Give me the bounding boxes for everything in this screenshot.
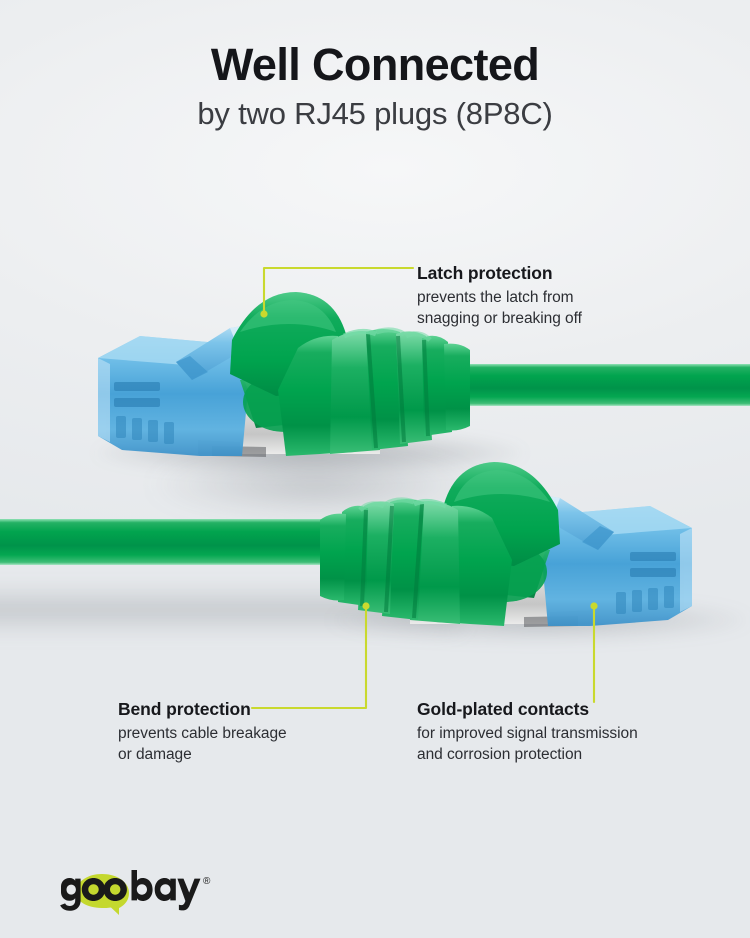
callout-body-line-2: or damage	[118, 744, 287, 765]
goobay-logo: ®	[55, 870, 235, 916]
bend-protection-ribs	[338, 499, 460, 624]
callout-body-line-2: and corrosion protection	[417, 744, 638, 765]
callout-title: Gold-plated contacts	[417, 698, 638, 720]
bend-protection-ribs	[330, 329, 452, 454]
callout-body-line-1: for improved signal transmission	[417, 723, 638, 744]
callout-bend-protection: Bend protection prevents cable breakage …	[118, 698, 287, 765]
callout-body-line-1: prevents cable breakage	[118, 723, 287, 744]
boot-cable-transition	[444, 344, 470, 431]
page-subtitle: by two RJ45 plugs (8P8C)	[0, 90, 750, 132]
callout-title: Bend protection	[118, 698, 287, 720]
page-title: Well Connected	[0, 0, 750, 90]
callout-body: for improved signal transmission and cor…	[417, 723, 638, 765]
callout-body-line-1: prevents the latch from	[417, 287, 582, 308]
infographic-page: Well Connected by two RJ45 plugs (8P8C)	[0, 0, 750, 938]
logo-trademark-symbol: ®	[203, 876, 211, 887]
rj45-plug-right-facing	[320, 440, 710, 640]
header: Well Connected by two RJ45 plugs (8P8C)	[0, 0, 750, 132]
boot-cable-transition	[320, 514, 346, 601]
callout-gold-plated-contacts: Gold-plated contacts for improved signal…	[417, 698, 638, 765]
callout-body-line-2: snagging or breaking off	[417, 308, 582, 329]
callout-title: Latch protection	[417, 262, 582, 284]
callout-body: prevents cable breakage or damage	[118, 723, 287, 765]
callout-body: prevents the latch from snagging or brea…	[417, 287, 582, 329]
goobay-logo-mark: ®	[55, 870, 235, 916]
callout-latch-protection: Latch protection prevents the latch from…	[417, 262, 582, 329]
